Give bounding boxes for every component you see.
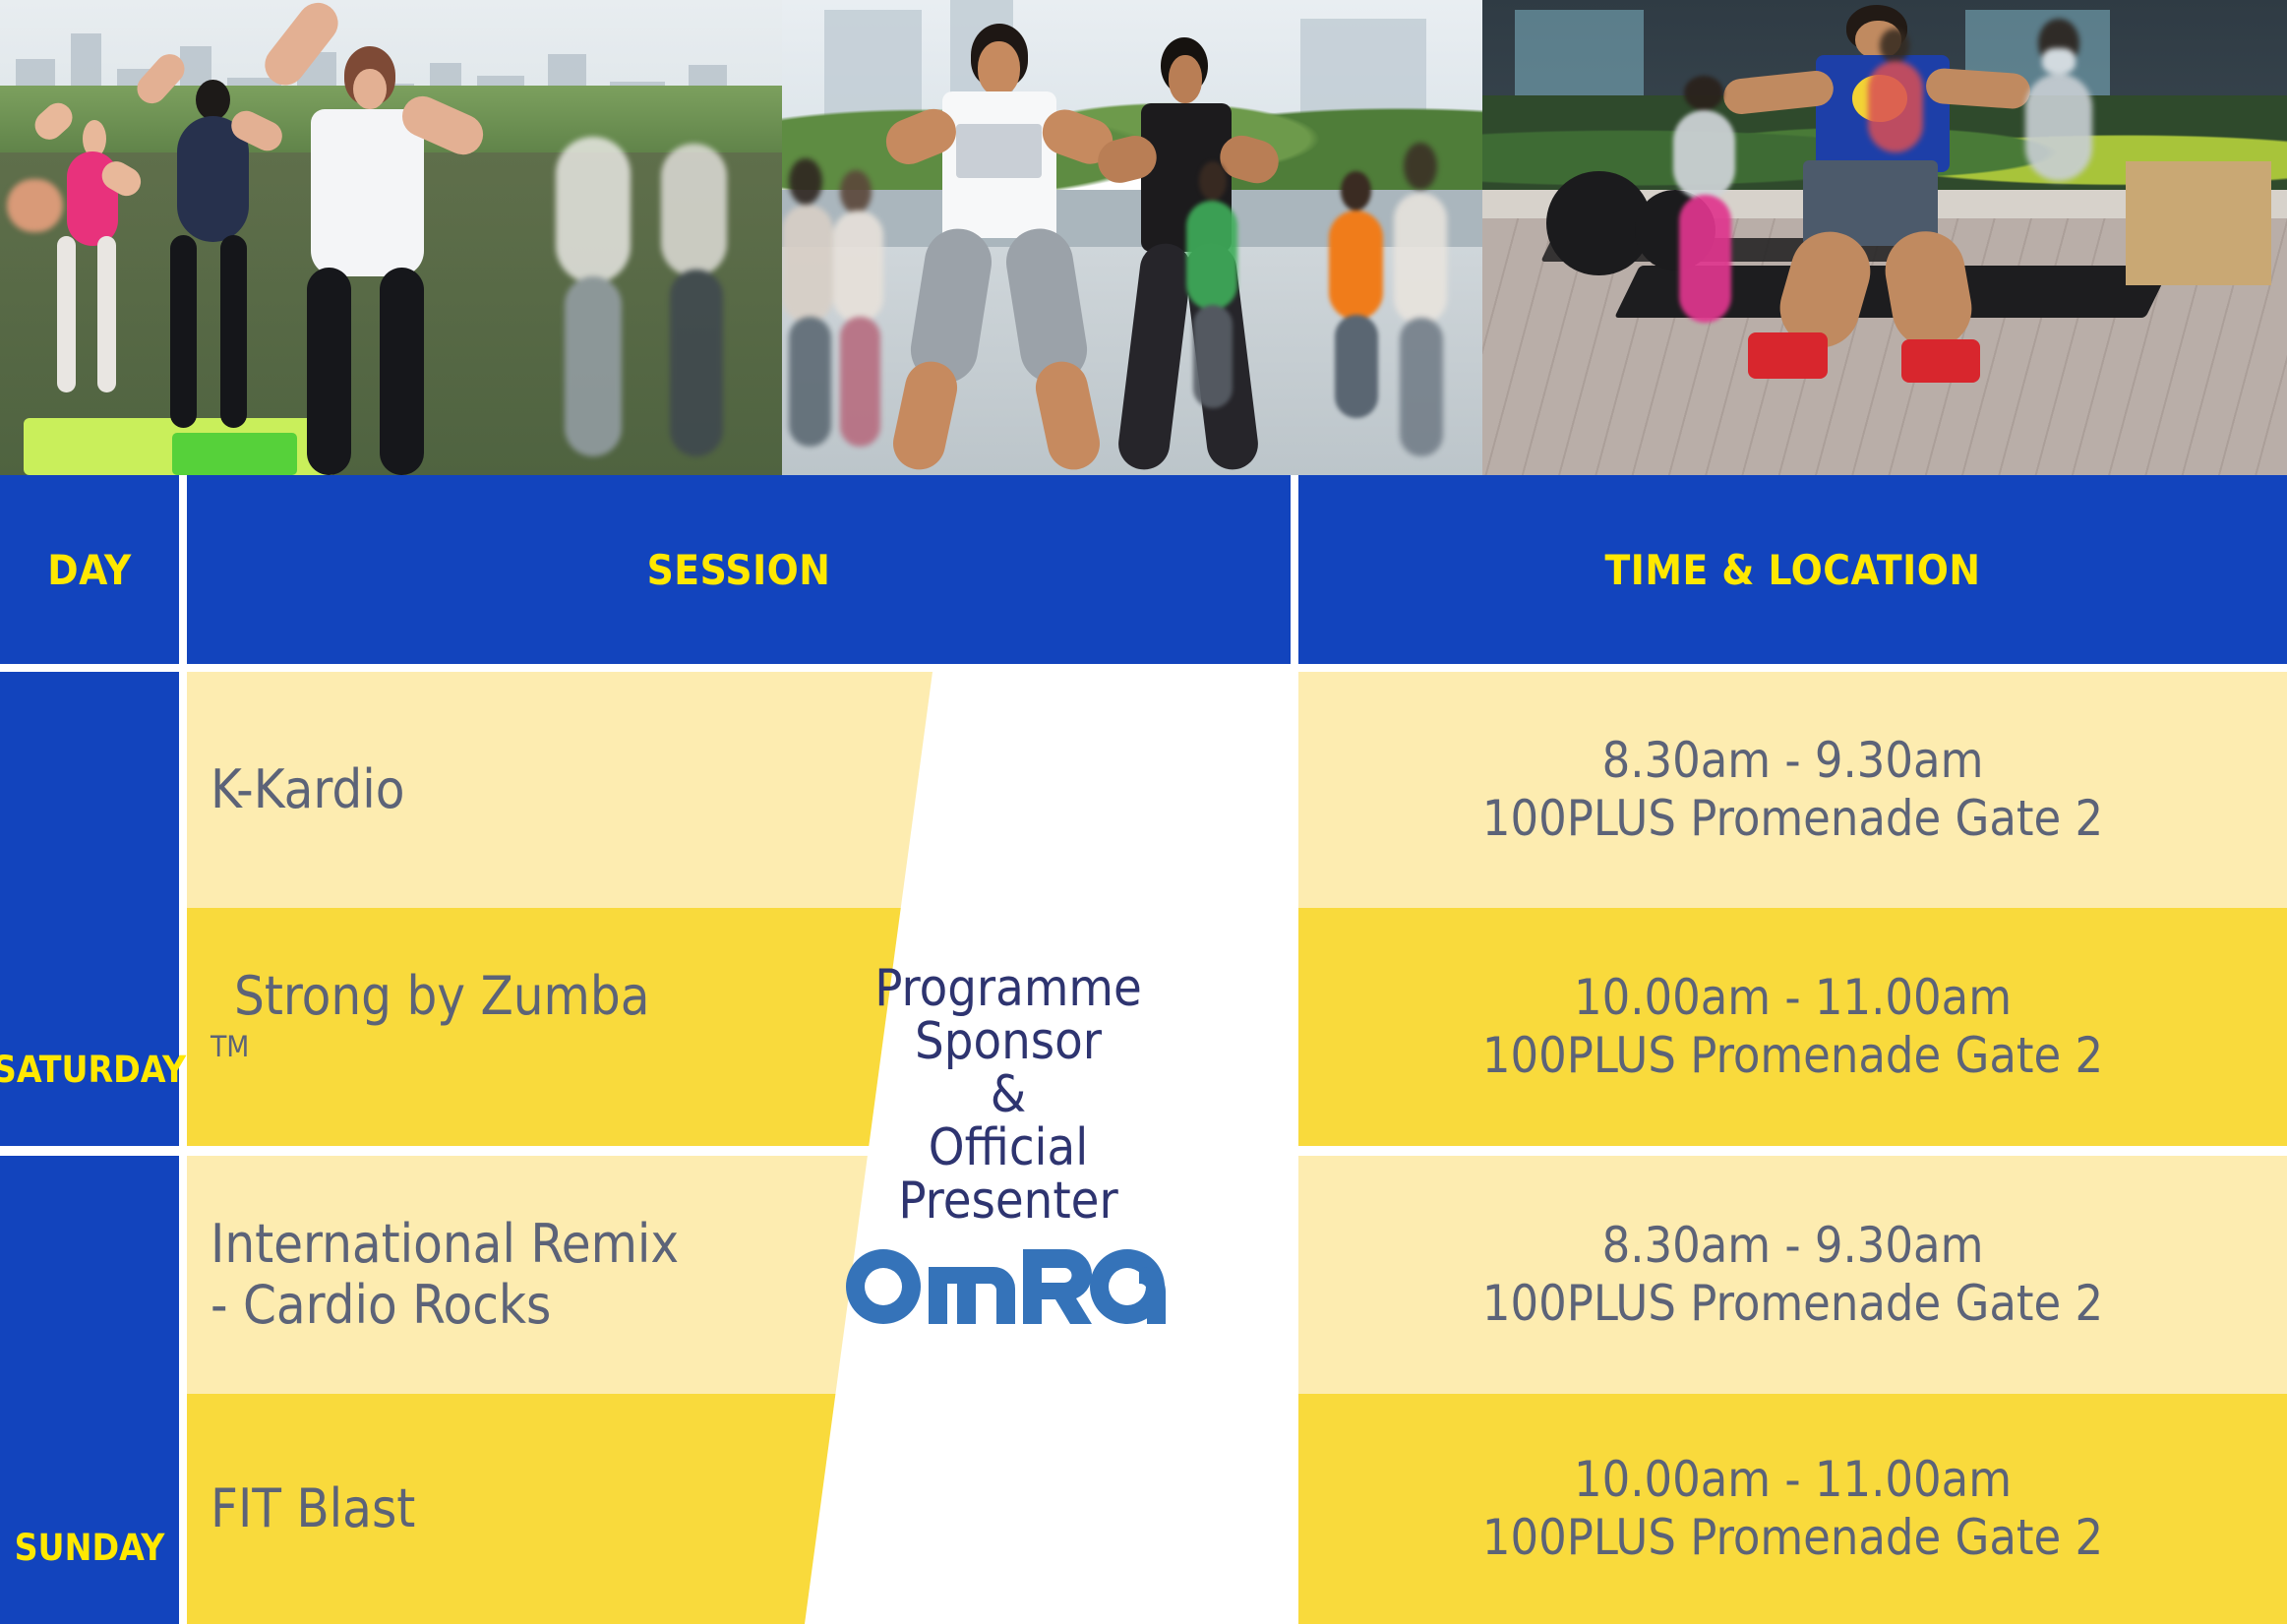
sponsor-line-4: Official (874, 1121, 1142, 1174)
schedule-table-body: SATURDAY SUNDAY K-Kardio Strong by Zumba… (0, 672, 2287, 1624)
sponsor-line-3: & (874, 1068, 1142, 1121)
table-row: 10.00am - 11.00am 100PLUS Promenade Gate… (1298, 1394, 2287, 1624)
time-location-cell-3: 10.00am - 11.00am 100PLUS Promenade Gate… (1482, 1451, 2103, 1567)
session-label-3: FIT Blast (187, 1478, 415, 1539)
person-background-left (0, 171, 71, 247)
day-label-saturday: SATURDAY (0, 1049, 186, 1091)
person-white-top (250, 24, 485, 475)
photo-band (0, 0, 2287, 475)
participant-green (1174, 161, 1251, 408)
time-location-cell-1: 10.00am - 11.00am 100PLUS Promenade Gate… (1482, 969, 2103, 1085)
session-label-0: K-Kardio (187, 759, 404, 820)
day-label-sunday: SUNDAY (15, 1527, 165, 1569)
sponsor-line-5: Presenter (874, 1174, 1142, 1228)
photo-zumba-class (782, 0, 1482, 475)
participant-right-group (1384, 143, 1482, 456)
time-value-2: 8.30am - 9.30am (1602, 1217, 1984, 1274)
trainer-male-foreground (880, 14, 1118, 470)
location-value-1: 100PLUS Promenade Gate 2 (1482, 1027, 2103, 1084)
photo-trainer-squat (1482, 0, 2287, 475)
column-header-time-location: TIME & LOCATION (1298, 475, 2287, 664)
person-background-red-top (1860, 29, 1933, 152)
trademark-symbol: TM (211, 1030, 249, 1064)
person-background-pink-pants (1659, 76, 1756, 323)
plyo-box (2126, 161, 2270, 285)
sponsor-text: Programme Sponsor & Official Presenter (874, 962, 1142, 1228)
day-cell-sunday: SUNDAY (0, 1156, 179, 1624)
session-label-1: Strong by ZumbaTM (187, 966, 649, 1087)
table-row: 10.00am - 11.00am 100PLUS Promenade Gate… (1298, 908, 2287, 1146)
location-value-2: 100PLUS Promenade Gate 2 (1482, 1275, 2103, 1332)
time-value-0: 8.30am - 9.30am (1602, 732, 1984, 789)
time-location-column: 8.30am - 9.30am 100PLUS Promenade Gate 2… (1298, 672, 2287, 1624)
omron-logo: OMRON (846, 1245, 1171, 1334)
column-header-time-location-label: TIME & LOCATION (1605, 546, 1981, 594)
sponsor-line-1: Programme (874, 962, 1142, 1015)
session-label-2: International Remix - Cardio Rocks (187, 1214, 679, 1335)
time-value-3: 10.00am - 11.00am (1574, 1451, 2012, 1508)
table-header-bar: DAY SESSION TIME & LOCATION (0, 475, 2287, 664)
participant-left-group (782, 152, 894, 447)
column-header-day: DAY (0, 475, 179, 664)
location-value-0: 100PLUS Promenade Gate 2 (1482, 790, 2103, 847)
location-value-3: 100PLUS Promenade Gate 2 (1482, 1509, 2103, 1566)
person-background-right (548, 124, 767, 456)
time-location-cell-0: 8.30am - 9.30am 100PLUS Promenade Gate 2 (1482, 732, 2103, 848)
table-row: 8.30am - 9.30am 100PLUS Promenade Gate 2 (1298, 1156, 2287, 1394)
table-row: 8.30am - 9.30am 100PLUS Promenade Gate 2 (1298, 672, 2287, 908)
column-header-day-label: DAY (47, 546, 131, 594)
time-location-cell-2: 8.30am - 9.30am 100PLUS Promenade Gate 2 (1482, 1217, 2103, 1333)
day-cell-saturday: SATURDAY (0, 672, 179, 1146)
column-header-session-label: SESSION (647, 546, 831, 594)
photo-yoga-stretch (0, 0, 782, 475)
time-value-1: 10.00am - 11.00am (1574, 969, 2012, 1026)
person-pink-top (31, 95, 149, 409)
column-header-session: SESSION (187, 475, 1291, 664)
sponsor-line-2: Sponsor (874, 1015, 1142, 1068)
person-background-masked (2014, 19, 2110, 180)
sponsor-panel: Programme Sponsor & Official Presenter (748, 672, 1298, 1624)
